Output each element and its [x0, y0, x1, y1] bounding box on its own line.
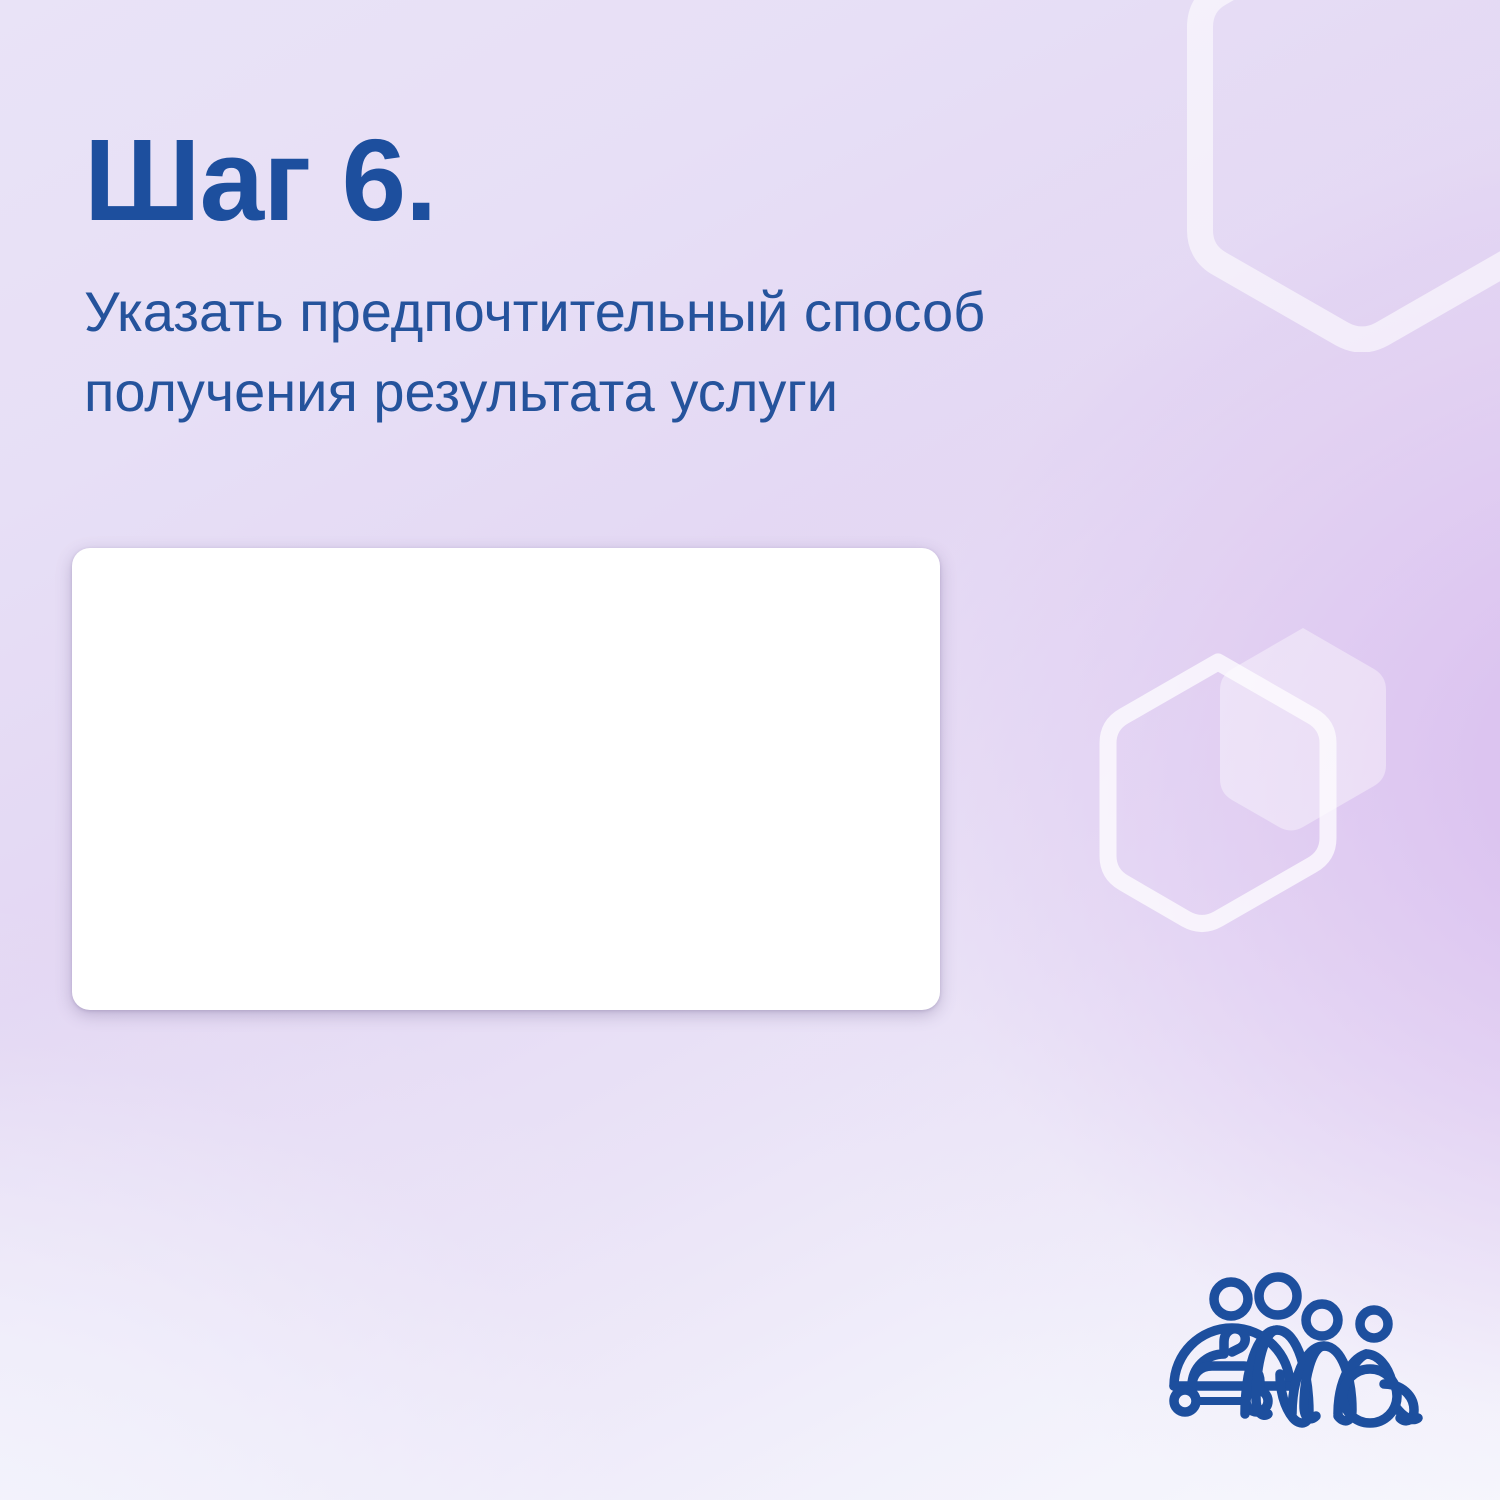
hexagon-filled-middle-right-icon — [1208, 620, 1398, 835]
family-people-logo-icon — [1152, 1262, 1424, 1430]
page-subtitle: Указать предпочтительный способ получени… — [84, 272, 1204, 431]
page-title: Шаг 6. — [84, 122, 436, 238]
screenshot-card: Шаг 1 Шаг 2 Шаг 3 Шаг 4 — [72, 548, 940, 1010]
hexagon-outline-top-right-icon — [1172, 0, 1500, 352]
hexagon-outline-middle-right-icon — [1088, 648, 1348, 933]
slide-root: Шаг 6. Указать предпочтительный способ п… — [0, 0, 1500, 1500]
